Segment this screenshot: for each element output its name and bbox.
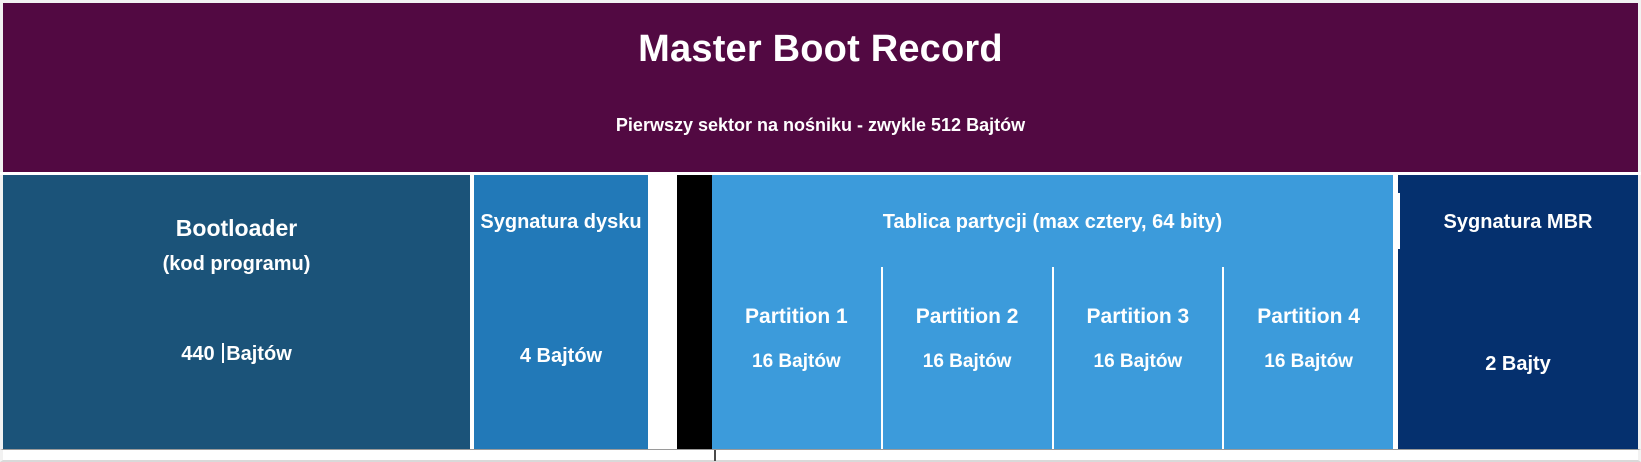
disk-signature-title: Sygnatura dysku [474,209,648,237]
page-title: Master Boot Record [3,29,1638,71]
block-mbr-signature: Sygnatura MBR 2 Bajty [1398,175,1641,449]
partition-cell: Partition 3 16 Bajtów [1052,267,1223,449]
bootloader-subtitle: (kod programu) [3,253,470,276]
partition-size: 16 Bajtów [883,351,1052,373]
mbr-signature-size: 2 Bajty [1398,353,1638,376]
disk-signature-size: 4 Bajtów [474,345,648,368]
partition-cell: Partition 1 16 Bajtów [712,267,881,449]
partition-size: 16 Bajtów [1054,351,1223,373]
mbr-diagram-canvas: Master Boot Record Pierwszy sektor na no… [0,0,1641,462]
partition-name: Partition 4 [1224,305,1393,329]
partition-size: 16 Bajtów [712,351,881,373]
bootloader-size-value: 440 [181,343,220,365]
bootloader-size: 440 Bajtów [3,343,470,366]
bootloader-title: Bootloader [3,213,470,245]
partition-cell: Partition 2 16 Bajtów [881,267,1052,449]
partition-size: 16 Bajtów [1224,351,1393,373]
block-bootloader: Bootloader (kod programu) 440 Bajtów [0,175,470,449]
page-subtitle: Pierwszy sektor na nośniku - zwykle 512 … [3,115,1638,137]
block-disk-signature: Sygnatura dysku 4 Bajtów [474,175,648,449]
partition-table-title: Tablica partycji (max cztery, 64 bity) [712,211,1393,234]
partition-name: Partition 1 [712,305,881,329]
bottom-tick-marker [714,450,716,461]
bottom-edge-strip [0,449,1641,462]
block-partition-table: Tablica partycji (max cztery, 64 bity) P… [712,175,1393,449]
block-black-gap [677,175,712,449]
sector-blocks-row: Bootloader (kod programu) 440 Bajtów Syg… [0,172,1641,449]
mbr-signature-title: Sygnatura MBR [1398,209,1638,237]
partition-name: Partition 2 [883,305,1052,329]
bootloader-size-unit: Bajtów [226,343,292,365]
partition-cells: Partition 1 16 Bajtów Partition 2 16 Baj… [712,267,1393,449]
partition-cell: Partition 4 16 Bajtów [1222,267,1393,449]
partition-name: Partition 3 [1054,305,1223,329]
text-caret [222,343,224,363]
diagram-header: Master Boot Record Pierwszy sektor na no… [0,0,1641,172]
